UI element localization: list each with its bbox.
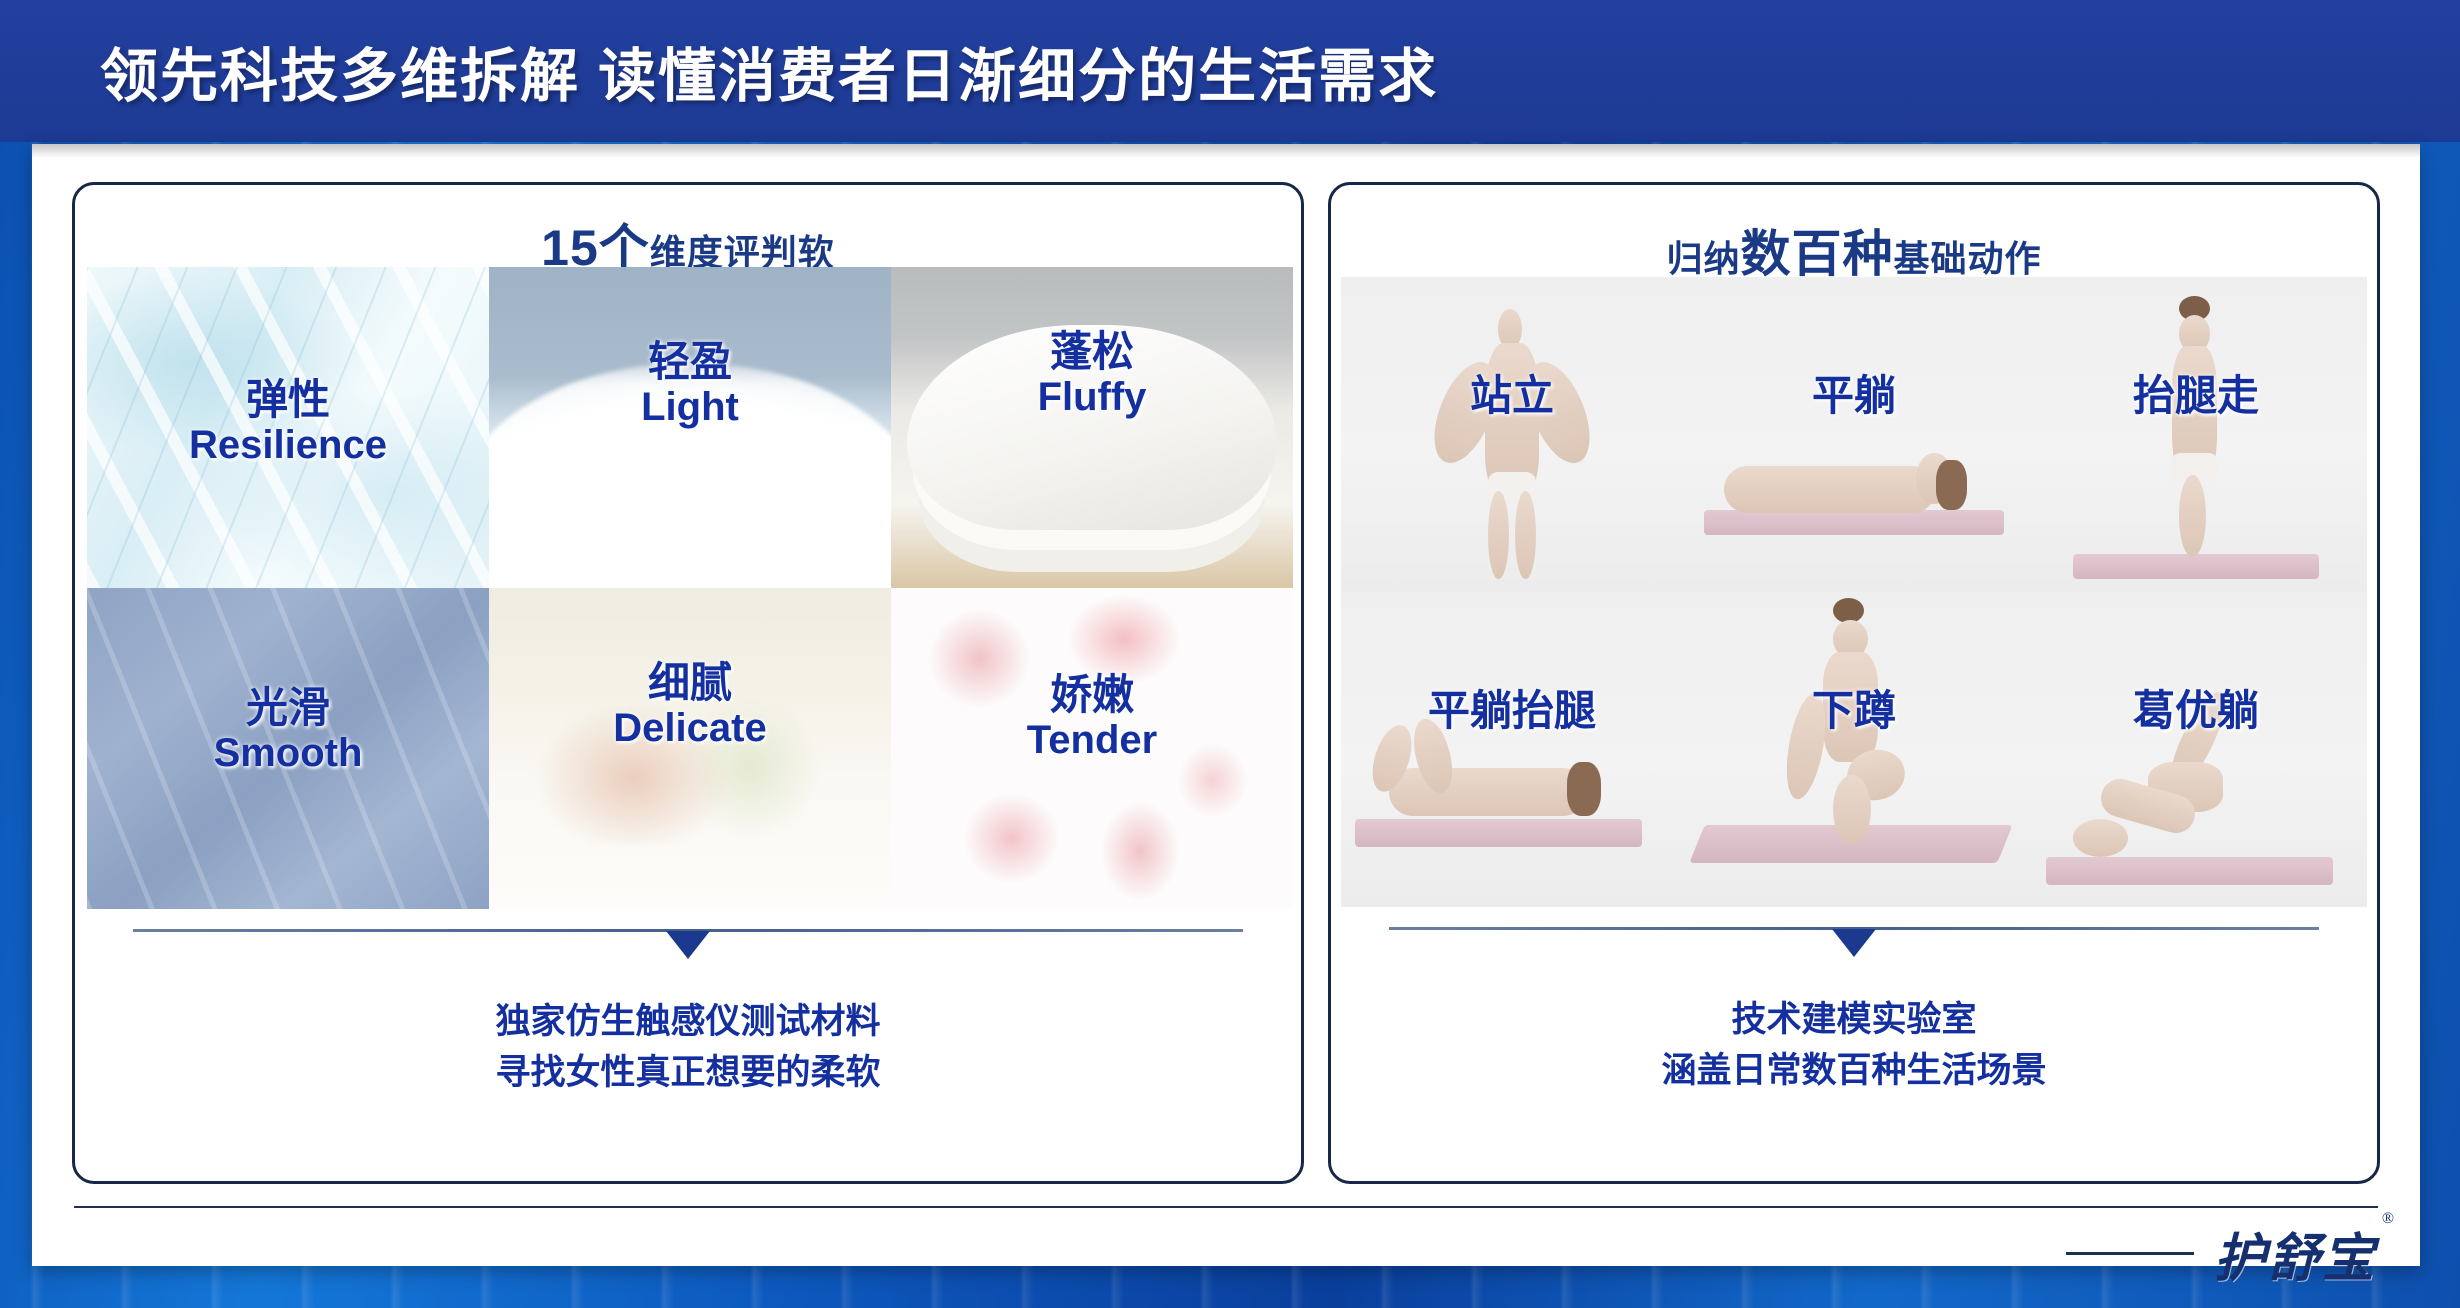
right-divider-wrap: [1331, 927, 2377, 930]
divider-line: [1389, 927, 2319, 930]
tile-label-cn: 站立: [1341, 372, 1683, 419]
tile-label-cn: 光滑: [87, 684, 489, 731]
footer-rule: [74, 1206, 2378, 1208]
left-divider-wrap: [75, 929, 1301, 932]
dimension-tile-smooth[interactable]: 光滑 Smooth: [87, 588, 489, 909]
tile-label-en: Fluffy: [891, 375, 1293, 420]
divider-line: [133, 929, 1243, 932]
right-heading-prefix: 归纳: [1666, 238, 1740, 279]
brand-logo-text: 护舒宝: [2214, 1231, 2376, 1288]
tile-label: 抬腿走: [2025, 372, 2367, 419]
chevron-down-icon: [1832, 929, 1876, 957]
right-panel-heading: 归纳数百种基础动作: [1331, 229, 2377, 279]
stacked-pillows-image: [891, 267, 1293, 588]
dimension-tile-delicate[interactable]: 细腻 Delicate: [489, 588, 891, 909]
tile-label: 娇嫩 Tender: [891, 671, 1293, 763]
standing-figure-image: [1341, 277, 1683, 592]
brand-lockup: 护舒宝 ®: [2066, 1216, 2376, 1291]
tile-label: 蓬松 Fluffy: [891, 328, 1293, 420]
brand-logo: 护舒宝 ®: [2214, 1216, 2376, 1291]
right-heading-suffix: 基础动作: [1894, 238, 2042, 279]
leg-raise-walk-figure-image: [2025, 277, 2367, 592]
card-top-shadow: [32, 144, 2420, 158]
tile-label-en: Tender: [891, 718, 1293, 763]
left-panel-heading: 15个维度评判软: [75, 223, 1301, 273]
posture-tile-grid: 站立 平躺: [1341, 277, 2367, 907]
tile-label-cn: 抬腿走: [2025, 372, 2367, 419]
tile-label: 平躺: [1683, 372, 2025, 419]
tile-label-cn: 平躺: [1683, 372, 2025, 419]
tile-label: 下蹲: [1683, 687, 2025, 734]
dimension-tile-light[interactable]: 轻盈 Light: [489, 267, 891, 588]
tile-label-cn: 蓬松: [891, 328, 1293, 375]
body-postures-panel: 归纳数百种基础动作 站立: [1328, 182, 2380, 1184]
slouch-recline-figure-image: [2025, 592, 2367, 907]
tile-label-cn: 弹性: [87, 376, 489, 423]
posture-tile-slouch-recline[interactable]: 葛优躺: [2025, 592, 2367, 907]
slide-card: 15个维度评判软 弹性 Resilience 轻盈 Light: [32, 144, 2420, 1266]
tile-label: 轻盈 Light: [489, 338, 891, 430]
tile-label-cn: 娇嫩: [891, 671, 1293, 718]
tile-label: 光滑 Smooth: [87, 684, 489, 776]
posture-tile-lying-leg-raise[interactable]: 平躺抬腿: [1341, 592, 1683, 907]
tile-label-cn: 轻盈: [489, 338, 891, 385]
tile-label-cn: 细腻: [489, 659, 891, 706]
tile-label: 站立: [1341, 372, 1683, 419]
posture-tile-standing[interactable]: 站立: [1341, 277, 1683, 592]
tile-label: 弹性 Resilience: [87, 376, 489, 468]
right-heading-big: 数百种: [1741, 226, 1894, 282]
tile-label: 平躺抬腿: [1341, 687, 1683, 734]
right-panel-footer: 技术建模实验室 涵盖日常数百种生活场景: [1331, 995, 2377, 1097]
dimension-tile-fluffy[interactable]: 蓬松 Fluffy: [891, 267, 1293, 588]
squat-figure-image: [1683, 592, 2025, 907]
lying-flat-figure-image: [1683, 277, 2025, 592]
dimension-tile-grid: 弹性 Resilience 轻盈 Light 蓬松 Fluffy: [87, 267, 1293, 909]
softness-dimensions-panel: 15个维度评判软 弹性 Resilience 轻盈 Light: [72, 182, 1304, 1184]
posture-tile-lying-flat[interactable]: 平躺: [1683, 277, 2025, 592]
tile-label-cn: 葛优躺: [2025, 687, 2367, 734]
posture-tile-leg-raise-walk[interactable]: 抬腿走: [2025, 277, 2367, 592]
page-title: 领先科技多维拆解 读懂消费者日渐细分的生活需求: [100, 29, 1438, 113]
tile-label-cn: 平躺抬腿: [1341, 687, 1683, 734]
dimension-tile-resilience[interactable]: 弹性 Resilience: [87, 267, 489, 588]
lying-leg-raise-figure-image: [1341, 592, 1683, 907]
tile-label: 细腻 Delicate: [489, 659, 891, 751]
tile-label-en: Delicate: [489, 706, 891, 751]
tile-label-en: Smooth: [87, 731, 489, 776]
posture-tile-squat[interactable]: 下蹲: [1683, 592, 2025, 907]
dimension-tile-tender[interactable]: 娇嫩 Tender: [891, 588, 1293, 909]
left-panel-footer: 独家仿生触感仪测试材料 寻找女性真正想要的柔软: [75, 997, 1301, 1099]
chevron-down-icon: [666, 931, 710, 959]
title-banner: 领先科技多维拆解 读懂消费者日渐细分的生活需求: [0, 0, 2460, 142]
registered-trademark-icon: ®: [2382, 1210, 2396, 1228]
tile-label: 葛优躺: [2025, 687, 2367, 734]
tile-label-en: Light: [489, 385, 891, 430]
tile-label-cn: 下蹲: [1683, 687, 2025, 734]
brand-rule: [2066, 1252, 2194, 1255]
tile-label-en: Resilience: [87, 423, 489, 468]
